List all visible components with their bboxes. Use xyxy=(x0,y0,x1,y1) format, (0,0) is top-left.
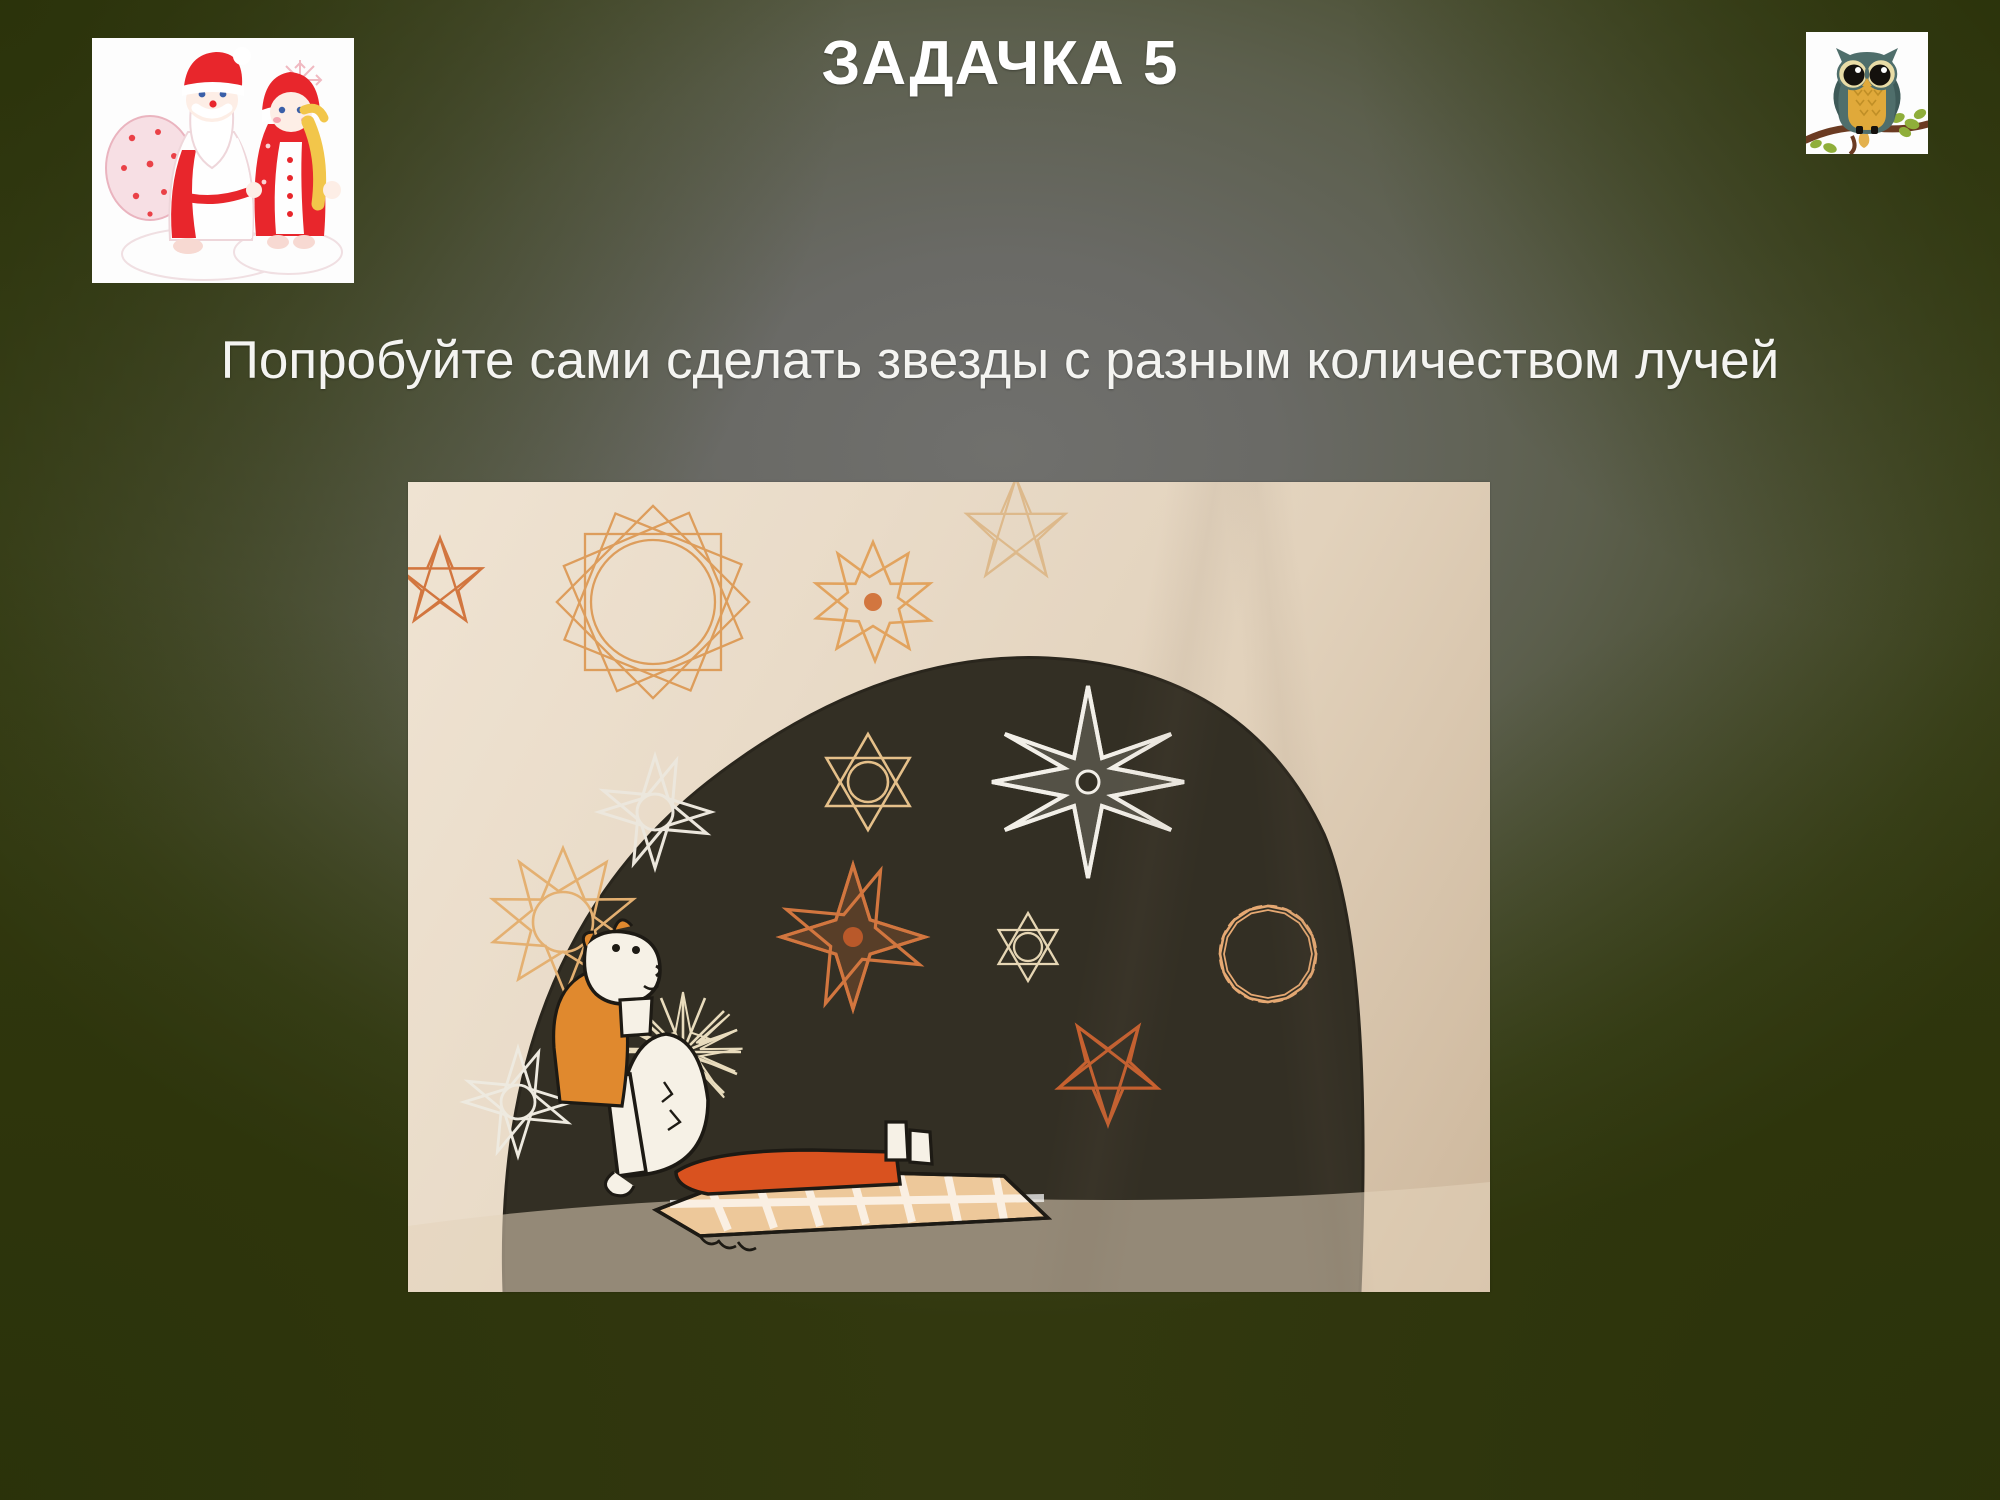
star-10-orange-top xyxy=(799,520,954,673)
star-5-rust-left xyxy=(408,538,482,621)
night-sky-photo xyxy=(408,482,1490,1292)
page-title: ЗАДАЧКА 5 xyxy=(0,28,2000,99)
star-12-squares xyxy=(557,506,749,698)
star-5-pale-topright xyxy=(967,482,1066,576)
slide-subtitle: Попробуйте сами сделать звезды с разным … xyxy=(60,330,1940,391)
slide-canvas: ЗАДАЧКА 5 Попробуйте сами сделать звезды… xyxy=(0,0,2000,1500)
string-art-stars-artwork xyxy=(408,482,1490,1292)
